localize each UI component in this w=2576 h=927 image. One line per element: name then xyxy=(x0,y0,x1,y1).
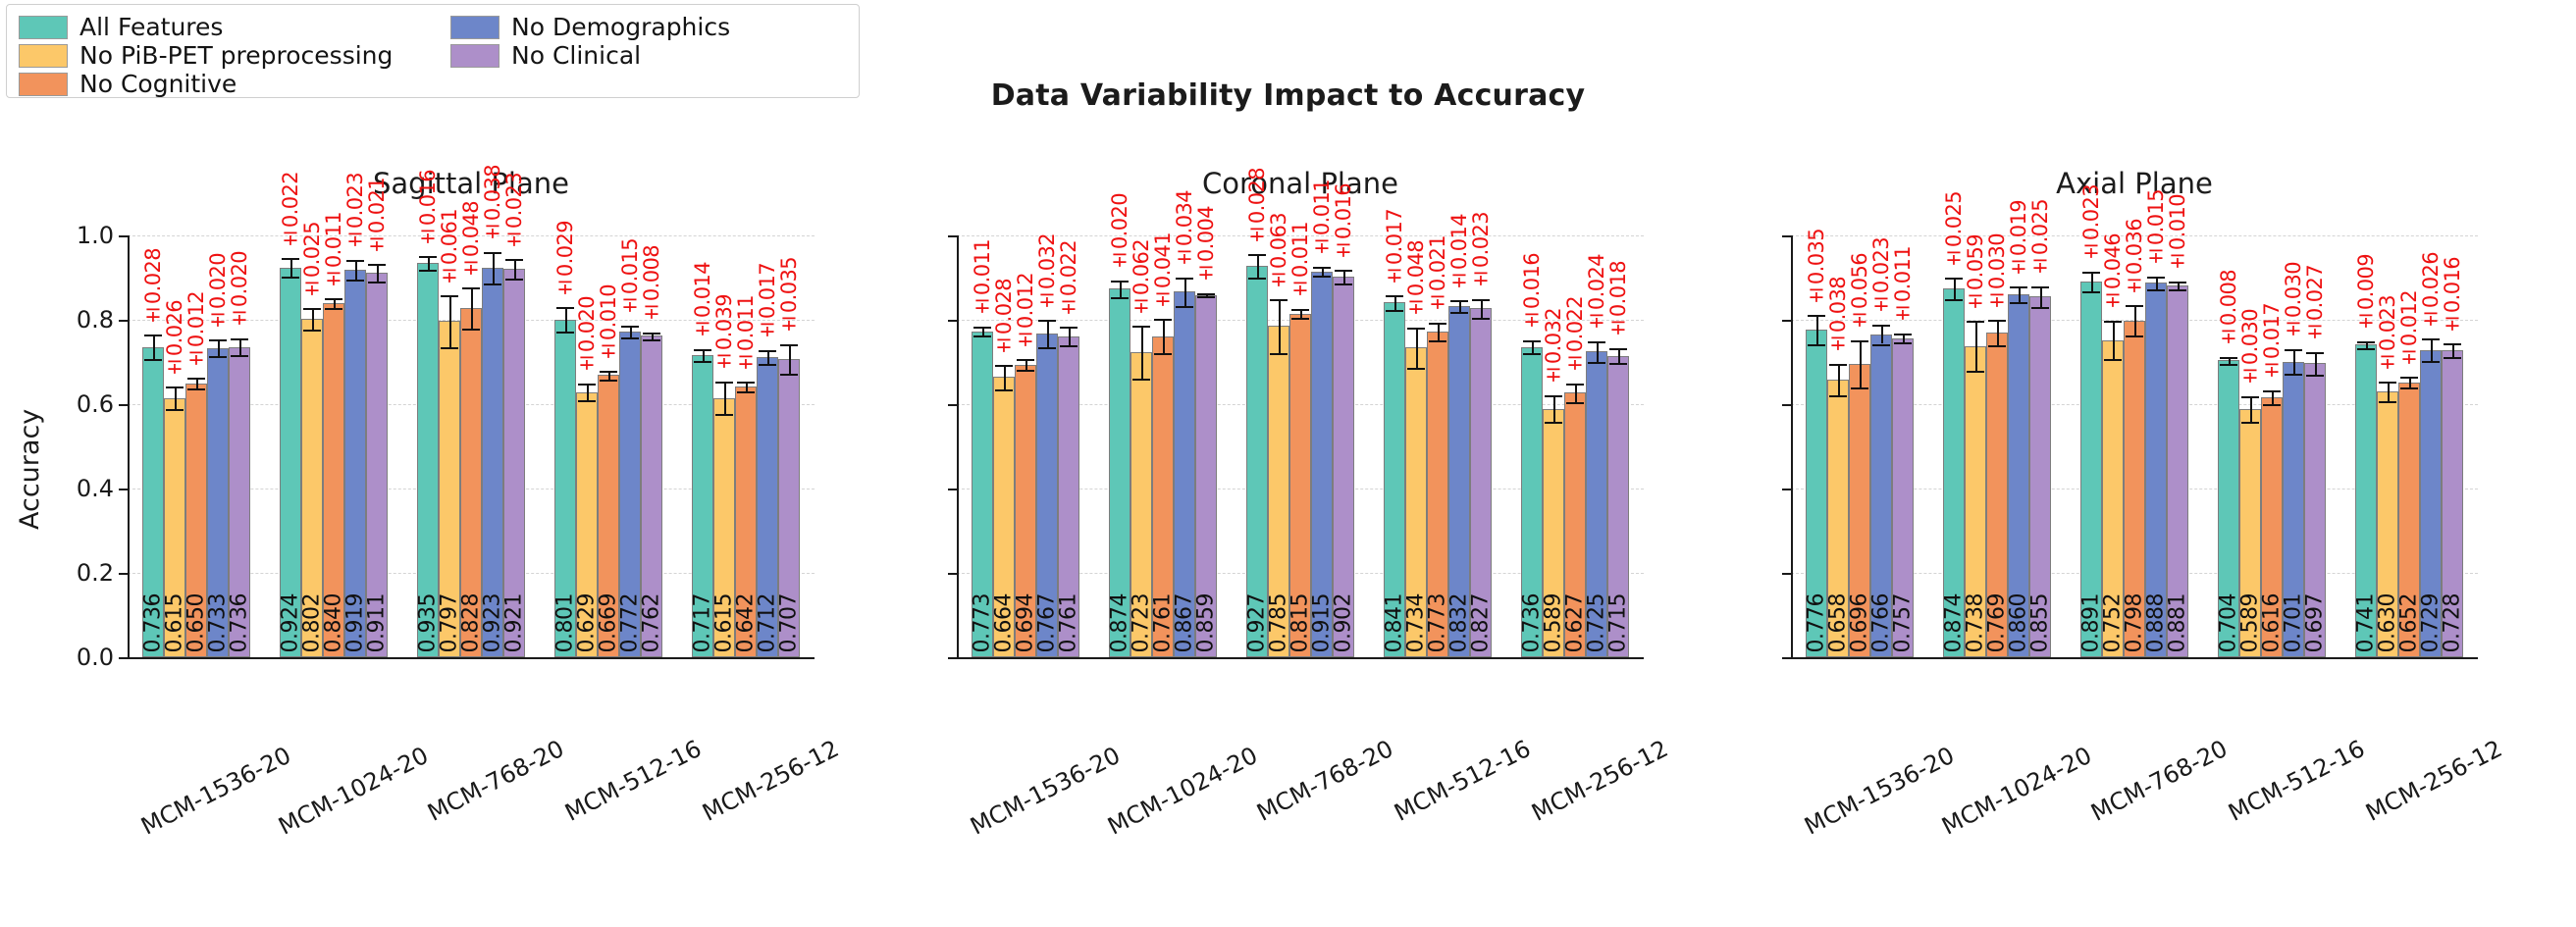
error-bar-cap xyxy=(1566,384,1584,386)
error-bar-cap xyxy=(694,349,711,351)
error-bar-cap xyxy=(2169,282,2186,283)
error-bar-cap xyxy=(1472,318,1490,320)
bar[interactable]: 0.694 xyxy=(1015,365,1036,657)
error-bar xyxy=(1438,323,1440,340)
bar-group: 0.776±0.0350.658±0.0380.696±0.0560.766±0… xyxy=(1806,235,1914,657)
y-tickmark xyxy=(1782,235,1791,237)
plot-area: 0.00.20.40.60.81.00.736±0.0280.615±0.026… xyxy=(128,235,815,657)
bar-value-label: 0.911 xyxy=(365,593,390,652)
error-bar-cap xyxy=(1945,299,1963,301)
bar-value-label: 0.902 xyxy=(1332,593,1356,652)
error-bar-cap xyxy=(578,400,596,402)
bar[interactable]: 0.867 xyxy=(1174,291,1195,657)
error-bar-cap xyxy=(1588,341,1605,343)
bar[interactable]: 0.855 xyxy=(2029,296,2051,657)
bar[interactable]: 0.797 xyxy=(439,321,460,657)
error-value-label: ±0.021 xyxy=(365,178,389,257)
error-bar-cap xyxy=(1313,267,1331,269)
error-value-label: ±0.019 xyxy=(2007,200,2030,280)
error-bar-cap xyxy=(600,371,617,373)
bar[interactable]: 0.915 xyxy=(1311,272,1333,657)
error-bar xyxy=(1047,320,1049,347)
bar-group: 0.801±0.0290.629±0.0200.669±0.0100.772±0… xyxy=(554,235,662,657)
bar-value-label: 0.921 xyxy=(502,593,527,652)
error-bar-cap xyxy=(462,287,480,289)
error-value-label: ±0.028 xyxy=(992,279,1016,358)
y-tickmark xyxy=(948,404,957,406)
error-bar-cap xyxy=(346,280,364,282)
bar[interactable]: 0.919 xyxy=(344,270,366,657)
error-bar-cap xyxy=(1291,309,1309,311)
bar-value-label: 0.762 xyxy=(640,593,664,652)
error-bar xyxy=(1553,395,1555,423)
y-tickmark xyxy=(119,489,128,490)
error-bar-cap xyxy=(643,333,660,335)
bar[interactable]: 0.832 xyxy=(1448,306,1470,657)
error-bar-cap xyxy=(2357,341,2375,343)
bar-value-label: 0.827 xyxy=(1469,593,1494,652)
y-tickmark xyxy=(119,404,128,406)
error-bar-cap xyxy=(2241,422,2259,424)
bar[interactable]: 0.924 xyxy=(280,268,301,657)
error-bar-cap xyxy=(2422,338,2440,340)
error-value-label: ±0.021 xyxy=(1426,235,1449,315)
bar-value-label: 0.855 xyxy=(2028,593,2053,652)
error-bar xyxy=(1141,326,1143,378)
error-value-label: ±0.010 xyxy=(2166,194,2189,274)
panel-sagittal-plane: Sagittal PlaneMCM-1536-20MCM-1024-20MCM-… xyxy=(128,206,815,863)
y-tickmark xyxy=(1782,489,1791,490)
bar[interactable]: 0.769 xyxy=(1986,333,2008,657)
error-value-label: ±0.046 xyxy=(2101,233,2125,313)
bar-group: 0.736±0.0280.615±0.0260.650±0.0120.733±0… xyxy=(142,235,250,657)
error-value-label: ±0.024 xyxy=(1585,254,1608,334)
bar[interactable]: 0.642 xyxy=(735,386,757,657)
bar[interactable]: 0.615 xyxy=(164,398,185,657)
bar[interactable]: 0.741 xyxy=(2355,344,2377,657)
bar[interactable]: 0.761 xyxy=(1152,336,1174,657)
error-bar-cap xyxy=(505,259,523,261)
error-bar-cap xyxy=(715,382,733,384)
error-bar-cap xyxy=(2169,289,2186,291)
error-bar xyxy=(565,307,567,332)
error-value-label: ±0.017 xyxy=(1383,209,1406,288)
error-bar-cap xyxy=(1829,364,1847,366)
error-bar xyxy=(1997,320,1999,345)
bar[interactable]: 0.815 xyxy=(1289,314,1311,657)
error-value-label: ±0.017 xyxy=(756,263,779,342)
y-tickmark xyxy=(1782,657,1791,659)
bar[interactable]: 0.828 xyxy=(460,308,482,657)
bar[interactable]: 0.767 xyxy=(1036,334,1058,657)
error-bar-cap xyxy=(2444,357,2461,359)
error-bar-cap xyxy=(1450,312,1468,314)
error-bar-cap xyxy=(1197,293,1215,295)
error-value-label: ±0.020 xyxy=(228,251,251,331)
error-bar xyxy=(2134,305,2136,335)
error-bar-cap xyxy=(1017,359,1034,361)
error-bar-cap xyxy=(231,338,248,340)
bar-value-label: 0.757 xyxy=(1891,593,1916,652)
error-bar xyxy=(175,386,177,408)
x-axis xyxy=(957,657,1644,659)
error-bar-cap xyxy=(144,359,162,361)
error-bar-cap xyxy=(973,327,991,329)
error-bar-cap xyxy=(2357,348,2375,350)
bar[interactable]: 0.733 xyxy=(207,348,229,657)
error-bar-cap xyxy=(556,332,574,334)
error-bar-cap xyxy=(1988,320,2006,322)
bar-value-label: 0.736 xyxy=(228,593,252,652)
bar[interactable]: 0.704 xyxy=(2218,360,2239,657)
error-value-label: ±0.062 xyxy=(1130,239,1153,319)
error-value-label: ±0.059 xyxy=(1964,234,1987,314)
bar[interactable]: 0.734 xyxy=(1405,347,1427,657)
error-bar-cap xyxy=(1386,295,1403,297)
error-value-label: ±0.035 xyxy=(1805,229,1828,308)
bar[interactable]: 0.762 xyxy=(641,335,662,657)
error-bar-cap xyxy=(995,365,1013,367)
bar[interactable]: 0.827 xyxy=(1470,308,1492,657)
plot-area: 0.776±0.0350.658±0.0380.696±0.0560.766±0… xyxy=(1791,235,2478,657)
error-bar-cap xyxy=(2082,272,2100,274)
error-bar-cap xyxy=(2104,321,2122,323)
bar[interactable]: 0.840 xyxy=(323,303,344,657)
error-value-label: ±0.011 xyxy=(1891,246,1915,326)
error-bar-cap xyxy=(303,330,321,332)
bar[interactable]: 0.921 xyxy=(503,269,525,657)
bar[interactable]: 0.911 xyxy=(366,273,388,657)
error-bar-cap xyxy=(462,329,480,331)
bar[interactable]: 0.669 xyxy=(598,375,619,657)
bar-group: 0.717±0.0140.615±0.0390.642±0.0110.712±0… xyxy=(692,235,800,657)
error-value-label: ±0.039 xyxy=(712,294,736,374)
error-bar-cap xyxy=(187,388,205,390)
error-bar xyxy=(1394,295,1396,310)
error-value-label: ±0.025 xyxy=(2028,199,2052,279)
bar[interactable]: 0.902 xyxy=(1333,277,1354,657)
bar[interactable]: 0.772 xyxy=(619,332,641,657)
error-bar xyxy=(2272,390,2274,405)
bar[interactable]: 0.712 xyxy=(757,357,778,657)
error-bar-cap xyxy=(1132,379,1150,381)
x-tick-label: MCM-256-12 xyxy=(2361,735,2506,827)
chart-legend: All Features No Demographics No PiB-PET … xyxy=(6,4,860,98)
error-bar-cap xyxy=(600,380,617,382)
error-bar-cap xyxy=(2010,302,2027,304)
error-bar xyxy=(2315,352,2317,375)
error-bar-cap xyxy=(1038,320,1056,322)
error-value-label: ±0.035 xyxy=(777,257,801,336)
error-bar xyxy=(1416,328,1418,368)
x-tick-label: MCM-256-12 xyxy=(698,735,843,827)
error-bar-cap xyxy=(1851,387,1868,389)
y-tickmark xyxy=(1782,573,1791,575)
y-tickmark xyxy=(948,320,957,322)
error-bar-cap xyxy=(1017,370,1034,372)
bar[interactable]: 0.696 xyxy=(1849,364,1870,657)
error-bar-cap xyxy=(1313,276,1331,278)
error-bar-cap xyxy=(737,382,755,384)
bar[interactable]: 0.738 xyxy=(1965,346,1986,657)
y-tickmark xyxy=(119,320,128,322)
x-tick-label: MCM-768-20 xyxy=(2086,735,2232,827)
x-tick-label: MCM-1536-20 xyxy=(966,742,1125,841)
error-bar-cap xyxy=(1386,310,1403,312)
error-bar-cap xyxy=(1472,299,1490,301)
bar[interactable]: 0.891 xyxy=(2080,282,2102,657)
bar[interactable]: 0.664 xyxy=(993,377,1015,657)
y-tickmark xyxy=(948,657,957,659)
bar[interactable]: 0.923 xyxy=(482,268,503,657)
bar[interactable]: 0.888 xyxy=(2145,283,2167,657)
error-value-label: ±0.023 xyxy=(2376,295,2399,375)
bar-group: 0.841±0.0170.734±0.0480.773±0.0210.832±0… xyxy=(1384,235,1492,657)
legend-swatch-icon xyxy=(19,73,68,96)
error-bar xyxy=(1975,321,1977,371)
error-bar-cap xyxy=(1197,296,1215,298)
legend-swatch-icon xyxy=(450,16,499,39)
error-value-label: ±0.011 xyxy=(322,212,345,291)
bar[interactable]: 0.736 xyxy=(142,347,164,657)
error-value-label: ±0.038 xyxy=(1826,277,1850,356)
bar-group: 0.935±0.0160.797±0.0610.828±0.0480.923±0… xyxy=(417,235,525,657)
error-bar-cap xyxy=(2104,359,2122,361)
error-bar-cap xyxy=(780,374,798,376)
bar[interactable]: 0.874 xyxy=(1109,288,1130,657)
error-value-label: ±0.016 xyxy=(416,170,440,249)
error-value-label: ±0.010 xyxy=(597,284,620,364)
x-tick-label: MCM-1024-20 xyxy=(1937,742,2096,841)
bar[interactable]: 0.860 xyxy=(2008,294,2029,657)
error-bar-cap xyxy=(1588,362,1605,364)
legend-item-all-features: All Features xyxy=(19,13,450,41)
error-value-label: ±0.056 xyxy=(1848,253,1871,333)
legend-item-no-demographics: No Demographics xyxy=(450,13,863,41)
bar[interactable]: 0.757 xyxy=(1892,338,1914,658)
error-bar xyxy=(514,259,516,279)
error-bar-cap xyxy=(484,283,501,285)
bar[interactable]: 0.629 xyxy=(576,392,598,657)
error-bar-cap xyxy=(1894,334,1912,335)
error-bar xyxy=(2388,382,2390,401)
bar[interactable]: 0.725 xyxy=(1586,351,1607,657)
error-bar-cap xyxy=(1945,278,1963,280)
bar[interactable]: 0.589 xyxy=(1543,409,1564,657)
error-bar-cap xyxy=(621,326,639,328)
error-bar-cap xyxy=(1407,368,1425,370)
bar[interactable]: 0.935 xyxy=(417,263,439,657)
bar[interactable]: 0.627 xyxy=(1564,392,1586,657)
error-bar-cap xyxy=(1429,340,1446,342)
error-value-label: ±0.012 xyxy=(1014,273,1037,352)
error-bar-cap xyxy=(419,256,437,258)
error-bar xyxy=(2431,338,2433,360)
error-bar-cap xyxy=(1038,347,1056,349)
bar[interactable]: 0.927 xyxy=(1246,266,1268,657)
panel-axial-plane: Axial PlaneMCM-1536-20MCM-1024-20MCM-768… xyxy=(1791,206,2478,863)
error-value-label: ±0.025 xyxy=(300,222,324,301)
error-bar-cap xyxy=(759,350,776,352)
legend-label: No Clinical xyxy=(511,41,641,70)
error-value-label: ±0.027 xyxy=(2303,265,2327,344)
error-bar xyxy=(1279,299,1281,352)
error-bar xyxy=(2452,343,2454,357)
error-bar-cap xyxy=(144,335,162,336)
bar-value-label: 0.707 xyxy=(777,593,802,652)
error-bar xyxy=(471,287,473,328)
bar[interactable]: 0.881 xyxy=(2167,285,2188,657)
error-bar-cap xyxy=(2147,289,2165,291)
error-bar-cap xyxy=(643,339,660,341)
y-tick-label: 0.8 xyxy=(77,306,114,334)
bar[interactable]: 0.729 xyxy=(2420,350,2442,657)
bar[interactable]: 0.615 xyxy=(713,398,735,657)
error-bar-cap xyxy=(578,384,596,386)
error-bar-cap xyxy=(1407,328,1425,330)
error-value-label: ±0.022 xyxy=(1563,296,1587,376)
bar[interactable]: 0.798 xyxy=(2124,321,2145,657)
error-bar xyxy=(2019,286,2021,302)
legend-item-no-pib-pet-preprocessing: No PiB-PET preprocessing xyxy=(19,41,450,70)
error-bar xyxy=(2113,321,2115,360)
bar-group: 0.874±0.0250.738±0.0590.769±0.0300.860±0… xyxy=(1943,235,2051,657)
error-bar-cap xyxy=(1967,321,1984,323)
bar[interactable]: 0.785 xyxy=(1268,326,1289,657)
x-tick-label: MCM-1024-20 xyxy=(274,742,433,841)
bar[interactable]: 0.801 xyxy=(554,320,576,657)
x-tick-label: MCM-1536-20 xyxy=(136,742,295,841)
bar[interactable]: 0.766 xyxy=(1870,335,1892,657)
legend-item-no-clinical: No Clinical xyxy=(450,41,863,70)
error-value-label: ±0.016 xyxy=(1520,253,1544,333)
bar[interactable]: 0.658 xyxy=(1827,380,1849,657)
error-bar xyxy=(724,382,726,415)
y-tick-label: 0.4 xyxy=(77,475,114,502)
error-bar-cap xyxy=(1566,402,1584,404)
y-tick-label: 0.6 xyxy=(77,390,114,418)
error-bar xyxy=(1069,327,1071,345)
error-bar-cap xyxy=(209,339,227,341)
error-value-label: ±0.028 xyxy=(141,248,165,328)
legend-grid: All Features No Demographics No PiB-PET … xyxy=(19,13,847,98)
bar[interactable]: 0.736 xyxy=(1521,347,1543,657)
error-bar xyxy=(767,350,769,365)
bar[interactable]: 0.652 xyxy=(2398,383,2420,657)
bar[interactable]: 0.874 xyxy=(1943,288,1965,657)
error-bar-cap xyxy=(1967,371,1984,373)
bar[interactable]: 0.616 xyxy=(2261,397,2283,657)
error-bar xyxy=(1838,364,1840,396)
bar[interactable]: 0.776 xyxy=(1806,330,1827,657)
bar[interactable]: 0.773 xyxy=(1427,332,1448,657)
bar[interactable]: 0.701 xyxy=(2283,362,2304,657)
y-tick-label: 1.0 xyxy=(77,222,114,249)
bar[interactable]: 0.697 xyxy=(2304,363,2326,657)
error-value-label: ±0.038 xyxy=(481,165,504,244)
bar-value-label: 0.728 xyxy=(2441,593,2465,652)
y-axis-label: Accuracy xyxy=(15,409,45,530)
bar[interactable]: 0.707 xyxy=(778,359,800,657)
error-bar xyxy=(2293,349,2295,375)
error-bar-cap xyxy=(1176,278,1193,280)
bar[interactable]: 0.859 xyxy=(1195,295,1217,657)
error-bar-cap xyxy=(2126,335,2143,337)
error-bar xyxy=(449,295,451,346)
error-bar-cap xyxy=(1851,340,1868,342)
bar[interactable]: 0.752 xyxy=(2102,340,2124,657)
bar[interactable]: 0.589 xyxy=(2239,409,2261,657)
bar[interactable]: 0.723 xyxy=(1130,352,1152,657)
plot-area: 0.773±0.0110.664±0.0280.694±0.0120.767±0… xyxy=(957,235,1644,657)
error-value-label: ±0.032 xyxy=(1542,308,1565,387)
error-bar-cap xyxy=(1450,300,1468,302)
bar[interactable]: 0.715 xyxy=(1607,356,1629,657)
error-value-label: ±0.041 xyxy=(1151,232,1175,312)
x-tick-label: MCM-768-20 xyxy=(1252,735,1397,827)
error-bar-cap xyxy=(1872,325,1890,327)
error-value-label: ±0.023 xyxy=(1469,212,1493,291)
error-bar-cap xyxy=(1829,395,1847,397)
error-bar-cap xyxy=(505,279,523,281)
bar[interactable]: 0.728 xyxy=(2442,350,2463,657)
error-bar-cap xyxy=(2241,396,2259,398)
error-bar-cap xyxy=(1808,315,1825,317)
bar[interactable]: 0.773 xyxy=(972,332,993,657)
y-axis xyxy=(1791,235,1793,657)
bar[interactable]: 0.841 xyxy=(1384,302,1405,657)
bar[interactable]: 0.630 xyxy=(2377,391,2398,657)
bar[interactable]: 0.717 xyxy=(692,355,713,657)
error-bar-cap xyxy=(1872,344,1890,346)
legend-label: All Features xyxy=(79,13,223,41)
error-bar-cap xyxy=(621,337,639,339)
bar[interactable]: 0.736 xyxy=(229,347,250,657)
error-value-label: ±0.023 xyxy=(343,173,367,252)
error-bar-cap xyxy=(441,347,458,349)
error-bar-cap xyxy=(1894,342,1912,344)
error-bar-cap xyxy=(1545,395,1562,397)
bar[interactable]: 0.802 xyxy=(301,319,323,657)
error-value-label: ±0.020 xyxy=(575,296,599,376)
y-tickmark xyxy=(948,573,957,575)
bar[interactable]: 0.761 xyxy=(1058,336,1079,657)
legend-swatch-icon xyxy=(19,44,68,68)
bar[interactable]: 0.650 xyxy=(185,384,207,658)
y-tick-label: 0.2 xyxy=(77,559,114,587)
error-bar-cap xyxy=(2147,277,2165,279)
error-value-label: ±0.017 xyxy=(2260,303,2284,383)
x-tick-label: MCM-1024-20 xyxy=(1103,742,1262,841)
error-bar-cap xyxy=(1335,283,1352,285)
error-bar-cap xyxy=(1545,422,1562,424)
error-bar xyxy=(587,384,589,400)
y-axis xyxy=(128,235,130,657)
error-bar-cap xyxy=(2422,361,2440,363)
x-tick-label: MCM-256-12 xyxy=(1527,735,1672,827)
bar-group: 0.891±0.0230.752±0.0460.798±0.0360.888±0… xyxy=(2080,235,2188,657)
y-tickmark xyxy=(119,573,128,575)
bar-value-label: 0.859 xyxy=(1194,593,1219,652)
error-value-label: ±0.011 xyxy=(971,239,994,319)
error-bar-cap xyxy=(2220,364,2237,366)
error-bar-cap xyxy=(1270,299,1288,301)
error-bar-cap xyxy=(2285,349,2302,351)
error-bar-cap xyxy=(441,295,458,297)
error-value-label: ±0.036 xyxy=(2123,219,2146,298)
error-bar xyxy=(153,335,155,358)
y-tickmark xyxy=(948,489,957,490)
